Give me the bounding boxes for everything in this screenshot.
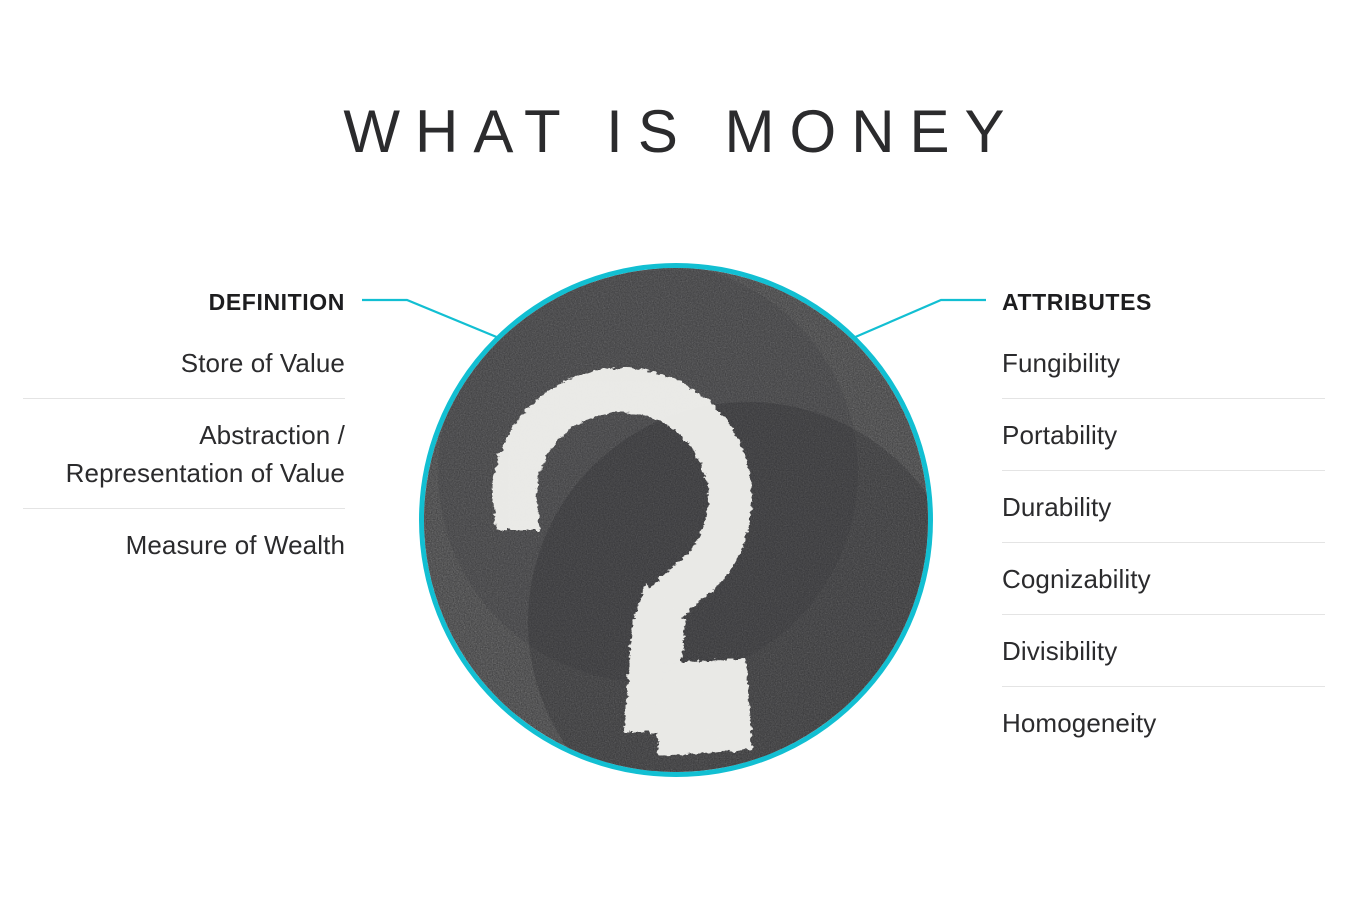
list-item[interactable]: Abstraction / Representation of Value — [23, 398, 345, 508]
list-item[interactable]: Divisibility — [1002, 614, 1325, 686]
list-item-line: Representation of Value — [23, 454, 345, 492]
list-item[interactable]: Durability — [1002, 470, 1325, 542]
list-item[interactable]: Measure of Wealth — [23, 508, 345, 580]
list-item-line: Measure of Wealth — [23, 526, 345, 564]
list-item-line: Portability — [1002, 416, 1325, 454]
attributes-column: ATTRIBUTES Fungibility Portability Durab… — [1002, 288, 1325, 758]
list-item-line: Homogeneity — [1002, 704, 1325, 742]
list-item-line: Store of Value — [23, 344, 345, 382]
list-item[interactable]: Cognizability — [1002, 542, 1325, 614]
attributes-heading: ATTRIBUTES — [1002, 288, 1325, 318]
list-item[interactable]: Portability — [1002, 398, 1325, 470]
list-item[interactable]: Homogeneity — [1002, 686, 1325, 758]
attributes-list: Fungibility Portability Durability Cogni… — [1002, 326, 1325, 758]
infographic-canvas: WHAT IS MONEY — [0, 0, 1348, 900]
list-item[interactable]: Fungibility — [1002, 326, 1325, 398]
list-item[interactable]: Store of Value — [23, 326, 345, 398]
definition-heading: DEFINITION — [23, 288, 345, 318]
list-item-line: Durability — [1002, 488, 1325, 526]
list-item-line: Abstraction / — [23, 416, 345, 454]
page-title: WHAT IS MONEY — [0, 100, 1348, 165]
definition-list: Store of Value Abstraction / Representat… — [23, 326, 345, 580]
list-item-line: Cognizability — [1002, 560, 1325, 598]
list-item-line: Divisibility — [1002, 632, 1325, 670]
definition-column: DEFINITION Store of Value Abstraction / … — [23, 288, 345, 580]
list-item-line: Fungibility — [1002, 344, 1325, 382]
question-mark-circle — [418, 262, 934, 778]
